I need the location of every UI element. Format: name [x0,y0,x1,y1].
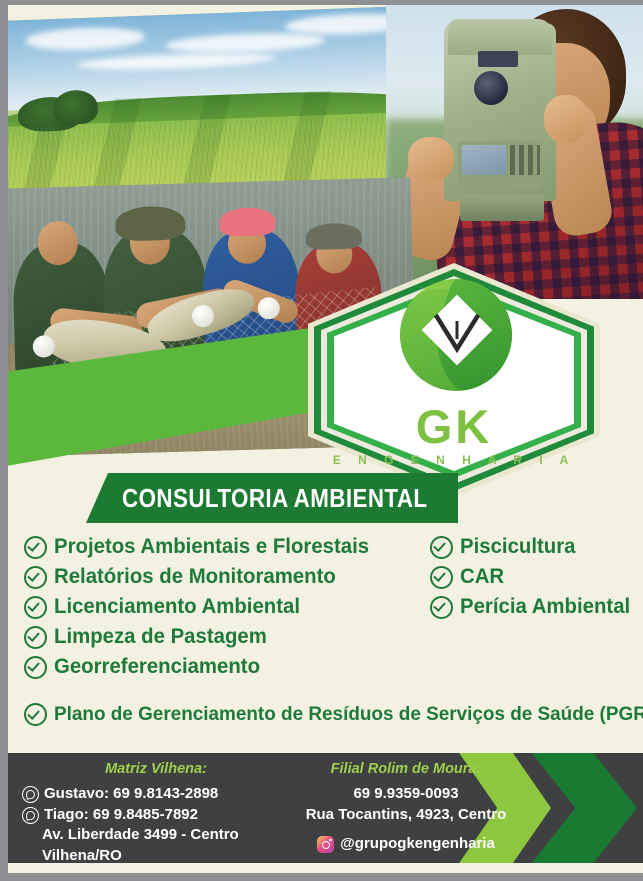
service-item: CAR [430,565,643,589]
check-circle-icon [24,703,47,726]
footer-contact-bar: Matriz Vilhena: Gustavo: 69 9.8143-2898 … [8,753,643,863]
services-column-right: Piscicultura CAR Perícia Ambiental [430,535,643,625]
bucket-hat [115,206,186,242]
check-circle-icon [24,566,47,589]
logo-subtitle: E N G E N H A R I A [308,453,600,467]
poster-canvas: GK E N G E N H A R I A CONSULTORIA AMBIE… [8,5,643,873]
whatsapp-icon [22,807,39,824]
check-circle-icon [24,536,47,559]
service-label: Licenciamento Ambiental [54,595,300,619]
instagram-handle-label: @grupogkengenharia [340,834,495,855]
instagram-icon [317,836,334,853]
cap [305,223,362,251]
banner-title: CONSULTORIA AMBIENTAL [122,483,427,514]
total-station-keypad [510,145,540,175]
logo-title: GK [308,403,600,450]
logo-badge: GK E N G E N H A R I A [308,263,600,497]
check-circle-icon [24,596,47,619]
service-label: CAR [460,565,504,589]
total-station-display [462,145,506,175]
tree-clump [53,89,98,125]
service-label: Plano de Gerenciamento de Resíduos de Se… [54,703,643,726]
filial-address: Rua Tocantins, 4923, Centro [276,805,536,826]
total-station-top [448,19,552,55]
service-item: Piscicultura [430,535,643,559]
service-label: Relatórios de Monitoramento [54,565,336,589]
service-item: Projetos Ambientais e Florestais [24,535,424,559]
total-station-upper-display [478,51,518,67]
surveyor-hand [544,95,588,143]
service-item: Relatórios de Monitoramento [24,565,424,589]
compass-icon [433,313,481,353]
matriz-address-line-1: Av. Liberdade 3499 - Centro [22,825,290,846]
whatsapp-icon [22,786,39,803]
matriz-address-line-2: Vilhena/RO [22,846,290,863]
surveyor-hand [408,137,454,181]
check-circle-icon [24,656,47,679]
check-circle-icon [430,536,453,559]
service-label: Piscicultura [460,535,575,559]
check-circle-icon [430,596,453,619]
consultoria-banner: CONSULTORIA AMBIENTAL [86,473,458,523]
service-item: Perícia Ambiental [430,595,643,619]
matriz-contact-2[interactable]: Tiago: 69 9.8485-7892 [22,805,290,826]
footer-column-matriz: Matriz Vilhena: Gustavo: 69 9.8143-2898 … [22,761,290,863]
services-full-width-row: Plano de Gerenciamento de Resíduos de Se… [24,703,643,732]
surveyor-photo [386,5,643,299]
service-label: Perícia Ambiental [460,595,630,619]
instagram-handle[interactable]: @grupogkengenharia [276,834,536,855]
matriz-contact-1-label: Gustavo: 69 9.8143-2898 [44,784,218,805]
matriz-contact-1[interactable]: Gustavo: 69 9.8143-2898 [22,784,290,805]
total-station-base [460,195,544,221]
service-item: Georreferenciamento [24,655,424,679]
filial-phone[interactable]: 69 9.9359-0093 [276,784,536,805]
flyer-poster: GK E N G E N H A R I A CONSULTORIA AMBIE… [0,0,643,881]
matriz-heading: Matriz Vilhena: [22,761,290,777]
service-item: Limpeza de Pastagem [24,625,424,649]
services-column-left: Projetos Ambientais e Florestais Relatór… [24,535,424,685]
matriz-contact-2-label: Tiago: 69 9.8485-7892 [44,805,198,826]
check-circle-icon [430,566,453,589]
leaf-emblem-icon [400,279,512,391]
total-station-lens [474,71,508,105]
service-item: Licenciamento Ambiental [24,595,424,619]
service-label: Limpeza de Pastagem [54,625,267,649]
pink-cap [219,207,276,237]
filial-heading: Filial Rolim de Moura: [276,761,536,777]
service-label: Projetos Ambientais e Florestais [54,535,369,559]
service-label: Georreferenciamento [54,655,260,679]
service-item: Plano de Gerenciamento de Resíduos de Se… [24,703,643,726]
footer-column-filial: Filial Rolim de Moura: 69 9.9359-0093 Ru… [276,761,536,855]
check-circle-icon [24,626,47,649]
